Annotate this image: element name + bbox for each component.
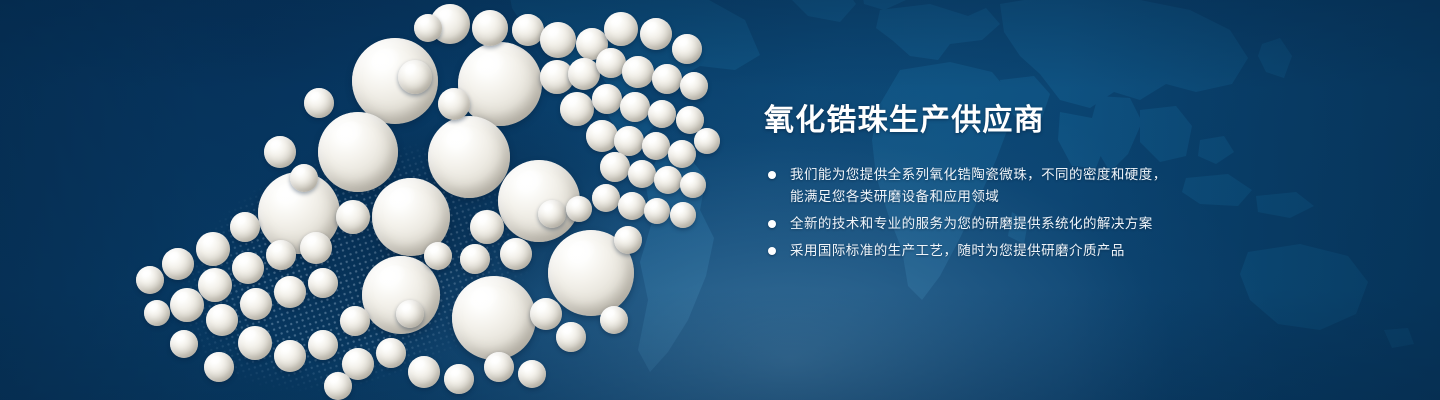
bullet-dot-icon bbox=[768, 247, 776, 255]
banner-content: 氧化锆珠生产供应商 我们能为您提供全系列氧化锆陶瓷微珠，不同的密度和硬度， 能满… bbox=[764, 104, 1234, 262]
list-item-line-1: 全新的技术和专业的服务为您的研磨提供系统化的解决方案 bbox=[790, 213, 1234, 235]
bullet-dot-icon bbox=[768, 220, 776, 228]
list-item: 我们能为您提供全系列氧化锆陶瓷微珠，不同的密度和硬度， 能满足您各类研磨设备和应… bbox=[764, 164, 1234, 208]
bullet-dot-icon bbox=[768, 171, 776, 179]
list-item-line-1: 采用国际标准的生产工艺，随时为您提供研磨介质产品 bbox=[790, 240, 1234, 262]
list-item: 采用国际标准的生产工艺，随时为您提供研磨介质产品 bbox=[764, 240, 1234, 262]
feature-list: 我们能为您提供全系列氧化锆陶瓷微珠，不同的密度和硬度， 能满足您各类研磨设备和应… bbox=[764, 164, 1234, 262]
hero-banner: 氧化锆珠生产供应商 我们能为您提供全系列氧化锆陶瓷微珠，不同的密度和硬度， 能满… bbox=[0, 0, 1440, 400]
list-item: 全新的技术和专业的服务为您的研磨提供系统化的解决方案 bbox=[764, 213, 1234, 235]
list-item-line-2: 能满足您各类研磨设备和应用领域 bbox=[790, 186, 1234, 208]
page-title: 氧化锆珠生产供应商 bbox=[764, 104, 1234, 138]
list-item-line-1: 我们能为您提供全系列氧化锆陶瓷微珠，不同的密度和硬度， bbox=[790, 164, 1234, 186]
